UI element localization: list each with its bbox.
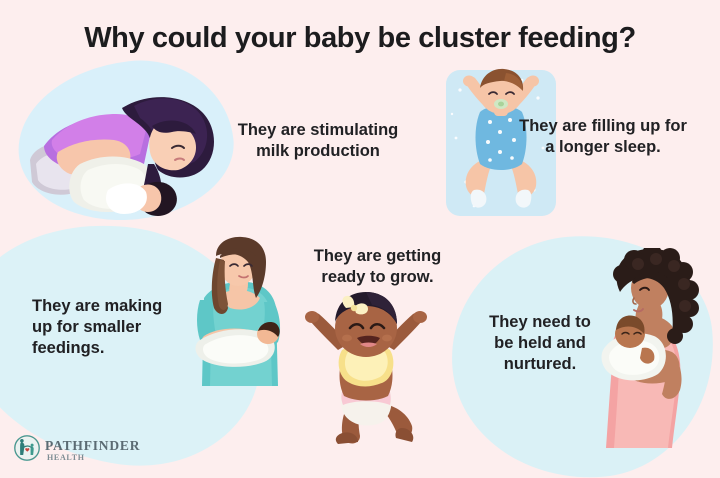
illustration-mother-lying-nursing — [22, 68, 222, 223]
caption-smaller-feedings: They are making up for smaller feedings. — [32, 296, 197, 358]
infographic-canvas: Why could your baby be cluster feeding? — [0, 0, 720, 478]
logo-wordmark: PATHFINDER HEALTH — [45, 439, 140, 463]
illustration-baby-arms-raised — [302, 288, 430, 451]
caption-stimulating-milk-production: They are stimulating milk production — [218, 120, 418, 162]
logo-subtitle: HEALTH — [47, 454, 140, 462]
caption-longer-sleep: They are filling up for a longer sleep. — [503, 116, 703, 158]
caption-ready-to-grow: They are getting ready to grow. — [295, 246, 460, 288]
caption-held-and-nurtured: They need to be held and nurtured. — [470, 312, 610, 374]
illustration-mother-holding-newborn — [186, 236, 294, 391]
logo-name: PATHFINDER — [45, 439, 140, 453]
pathfinder-health-logo[interactable]: PATHFINDER HEALTH — [14, 435, 140, 466]
page-title: Why could your baby be cluster feeding? — [0, 22, 720, 55]
pathfinder-emblem-icon — [14, 435, 40, 466]
